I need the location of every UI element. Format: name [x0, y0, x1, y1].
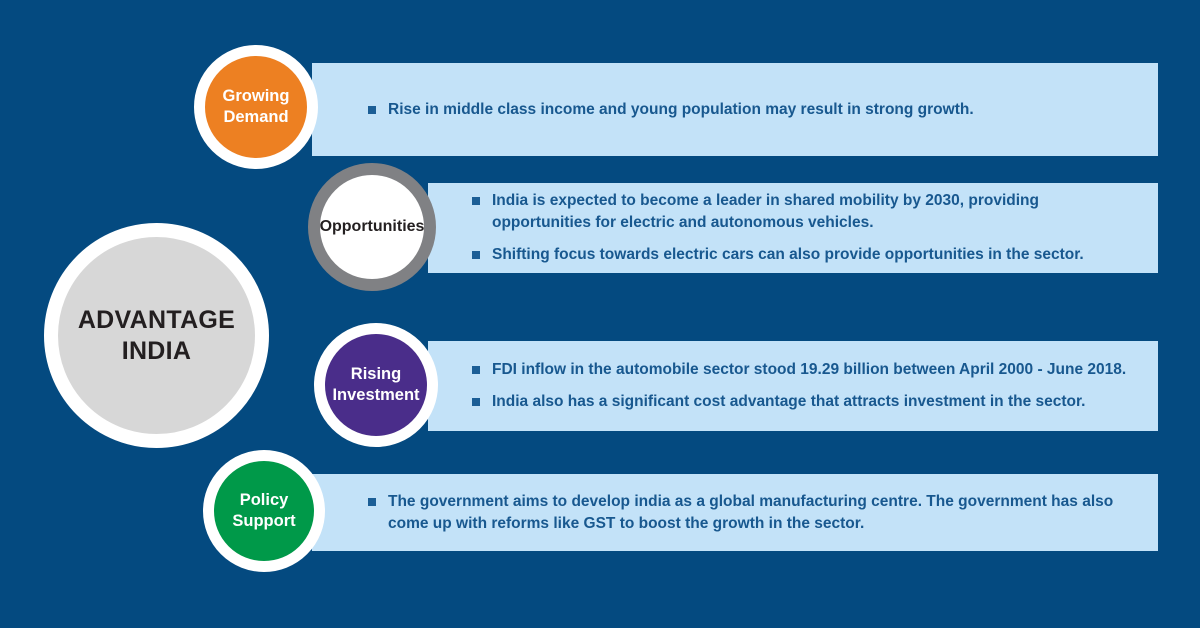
badge-policy-support[interactable]: Policy Support: [203, 450, 325, 572]
bullet-item: Rise in middle class income and young po…: [368, 99, 1132, 121]
bullet-text: India also has a significant cost advant…: [492, 391, 1144, 413]
badge-label: Rising Investment: [332, 364, 419, 405]
square-bullet-icon: [472, 366, 480, 374]
bullet-item: The government aims to develop india as …: [368, 491, 1132, 535]
badge-opportunities[interactable]: Opportunities: [308, 163, 436, 291]
bullet-text: Rise in middle class income and young po…: [388, 99, 1132, 121]
bullet-item: Shifting focus towards electric cars can…: [472, 244, 1138, 266]
badge-growing-demand[interactable]: Growing Demand: [194, 45, 318, 169]
badge-label: Policy Support: [232, 490, 295, 531]
advantage-india-infographic: ADVANTAGE INDIA Rise in middle class inc…: [0, 0, 1200, 628]
badge-rising-investment[interactable]: Rising Investment: [314, 323, 438, 447]
square-bullet-icon: [472, 251, 480, 259]
square-bullet-icon: [368, 106, 376, 114]
bullet-item: India is expected to become a leader in …: [472, 190, 1138, 234]
bullet-text: The government aims to develop india as …: [388, 491, 1132, 535]
square-bullet-icon: [368, 498, 376, 506]
bullet-item: India also has a significant cost advant…: [472, 391, 1144, 413]
content-panel-growing-demand: Rise in middle class income and young po…: [312, 63, 1158, 156]
square-bullet-icon: [472, 197, 480, 205]
bullet-text: India is expected to become a leader in …: [492, 190, 1138, 234]
square-bullet-icon: [472, 398, 480, 406]
hub-label: ADVANTAGE INDIA: [78, 305, 235, 366]
bullet-text: Shifting focus towards electric cars can…: [492, 244, 1138, 266]
badge-label: Growing Demand: [223, 86, 290, 127]
advantage-india-hub: ADVANTAGE INDIA: [44, 223, 269, 448]
content-panel-rising-investment: FDI inflow in the automobile sector stoo…: [428, 341, 1158, 431]
bullet-text: FDI inflow in the automobile sector stoo…: [492, 359, 1144, 381]
content-panel-opportunities: India is expected to become a leader in …: [428, 183, 1158, 273]
content-panel-policy-support: The government aims to develop india as …: [312, 474, 1158, 551]
bullet-item: FDI inflow in the automobile sector stoo…: [472, 359, 1144, 381]
badge-label: Opportunities: [320, 217, 425, 237]
